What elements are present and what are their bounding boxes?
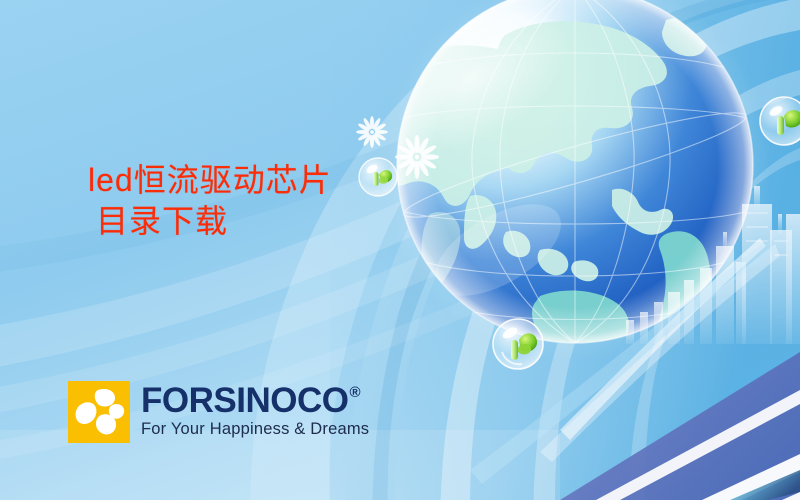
brand-wordmark-text: FORSINOCO [141, 383, 348, 419]
bubble-sprout-icon [760, 97, 800, 145]
promo-banner: led恒流驱动芯片 目录下载 FORSINOCO ® For Your Happ… [0, 0, 800, 500]
bubble-sprout-icon [359, 158, 397, 196]
brand-wordmark: FORSINOCO ® [141, 383, 369, 419]
bubble-sprout-icon [493, 319, 543, 369]
four-petal-flower-icon [68, 381, 130, 443]
brand-logo-lockup[interactable]: FORSINOCO ® For Your Happiness & Dreams [68, 381, 369, 443]
registered-trademark-symbol: ® [349, 385, 360, 400]
brand-text-block: FORSINOCO ® For Your Happiness & Dreams [141, 381, 369, 439]
brand-tagline: For Your Happiness & Dreams [141, 420, 369, 439]
